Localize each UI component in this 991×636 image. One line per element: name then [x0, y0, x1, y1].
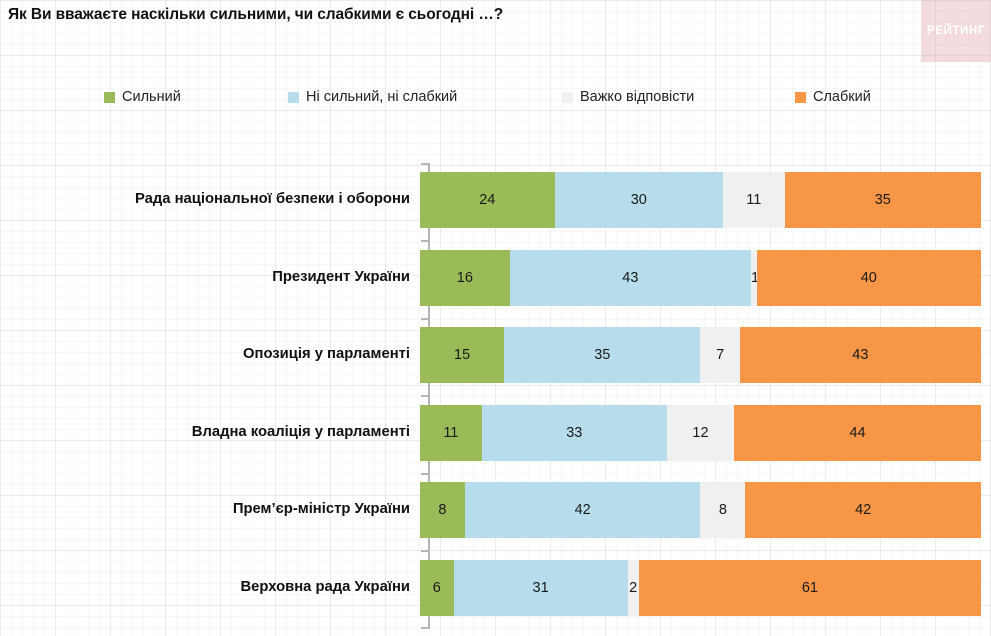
bar-row: Прем’єр-міністр України 842842 — [0, 471, 991, 548]
bar-segment-value: 1 — [751, 270, 757, 286]
legend-item-weak[interactable]: Слабкий — [795, 89, 871, 105]
category-label: Прем’єр-міністр України — [0, 501, 420, 517]
bar-segment: 8 — [420, 482, 465, 538]
legend-item-label: Важко відповісти — [580, 89, 694, 105]
legend-item-strong[interactable]: Сильний — [104, 89, 181, 105]
legend-item-label: Ні сильний, ні слабкий — [306, 89, 457, 105]
bar-segment-value: 42 — [855, 502, 871, 518]
bar-segment: 33 — [482, 405, 667, 461]
bar-segment-value: 8 — [719, 502, 727, 518]
bar-row: Рада національної безпеки і оборони 2430… — [0, 161, 991, 238]
stacked-bar: 24301135 — [420, 172, 981, 228]
bar-segment: 61 — [639, 560, 981, 616]
category-label: Рада національної безпеки і оборони — [0, 191, 420, 207]
bar-row: Владна коаліція у парламенті 11331244 — [0, 394, 991, 471]
bar-segment: 40 — [757, 250, 981, 306]
bar-segment-value: 15 — [454, 347, 470, 363]
bar-segment-value: 40 — [861, 270, 877, 286]
bar-segment-value: 12 — [692, 425, 708, 441]
bar-segment: 2 — [628, 560, 639, 616]
axis-cap-bottom — [421, 627, 429, 629]
bar-segment-value: 8 — [438, 502, 446, 518]
bar-segment-value: 33 — [566, 425, 582, 441]
bar-segment-value: 16 — [457, 270, 473, 286]
stacked-bar: 842842 — [420, 482, 981, 538]
legend-swatch-icon — [562, 92, 573, 103]
bar-segment-value: 6 — [433, 580, 441, 596]
legend-item-label: Сильний — [122, 89, 181, 105]
bar-segment: 11 — [723, 172, 785, 228]
legend-item-neither[interactable]: Ні сильний, ні слабкий — [288, 89, 457, 105]
category-label: Президент України — [0, 269, 420, 285]
category-label: Опозиція у парламенті — [0, 346, 420, 362]
stacked-bar: 1535743 — [420, 327, 981, 383]
bar-segment: 42 — [465, 482, 701, 538]
bar-segment: 44 — [734, 405, 981, 461]
bar-segment-value: 43 — [852, 347, 868, 363]
bar-segment: 43 — [740, 327, 981, 383]
bar-segment: 42 — [745, 482, 981, 538]
bar-segment-value: 61 — [802, 580, 818, 596]
bar-row: Верховна рада України 631261 — [0, 549, 991, 626]
bar-segment: 35 — [504, 327, 700, 383]
bar-segment: 12 — [667, 405, 734, 461]
bar-segment-value: 7 — [716, 347, 724, 363]
stacked-bar: 11331244 — [420, 405, 981, 461]
bar-segment-value: 43 — [622, 270, 638, 286]
stacked-bar: 631261 — [420, 560, 981, 616]
legend-swatch-icon — [795, 92, 806, 103]
bar-segment-value: 35 — [594, 347, 610, 363]
bar-segment: 11 — [420, 405, 482, 461]
bar-segment: 30 — [555, 172, 723, 228]
stacked-bar-chart-plot-area: Рада національної безпеки і оборони 2430… — [0, 155, 991, 636]
category-label: Верховна рада України — [0, 579, 420, 595]
page-title: Як Ви вважаєте наскільки сильними, чи сл… — [8, 6, 503, 24]
bar-segment: 15 — [420, 327, 504, 383]
bar-segment-value: 2 — [629, 580, 637, 596]
bar-segment: 31 — [454, 560, 628, 616]
bar-segment: 24 — [420, 172, 555, 228]
bar-segment: 43 — [510, 250, 751, 306]
bar-segment-value: 11 — [443, 425, 458, 441]
stacked-bar: 1643140 — [420, 250, 981, 306]
bar-segment: 8 — [700, 482, 745, 538]
bar-segment-value: 30 — [631, 192, 647, 208]
bar-segment-value: 44 — [849, 425, 865, 441]
legend-item-label: Слабкий — [813, 89, 871, 105]
legend-item-hard-to-say[interactable]: Важко відповісти — [562, 89, 694, 105]
bar-segment-value: 42 — [575, 502, 591, 518]
watermark-label: РЕЙТИНГ — [927, 25, 985, 37]
bar-row: Президент України 1643140 — [0, 239, 991, 316]
legend-swatch-icon — [288, 92, 299, 103]
bar-segment: 6 — [420, 560, 454, 616]
legend-swatch-icon — [104, 92, 115, 103]
category-label: Владна коаліція у парламенті — [0, 424, 420, 440]
rating-watermark-logo: РЕЙТИНГ — [921, 0, 991, 62]
bar-row: Опозиція у парламенті 1535743 — [0, 316, 991, 393]
bar-segment-value: 31 — [533, 580, 549, 596]
bar-segment: 7 — [700, 327, 739, 383]
chart-legend: Сильний Ні сильний, ні слабкий Важко від… — [0, 88, 991, 112]
bar-segment-value: 35 — [875, 192, 891, 208]
bar-segment: 16 — [420, 250, 510, 306]
bar-segment-value: 24 — [479, 192, 495, 208]
bar-segment: 35 — [785, 172, 981, 228]
bar-segment-value: 11 — [746, 192, 761, 208]
